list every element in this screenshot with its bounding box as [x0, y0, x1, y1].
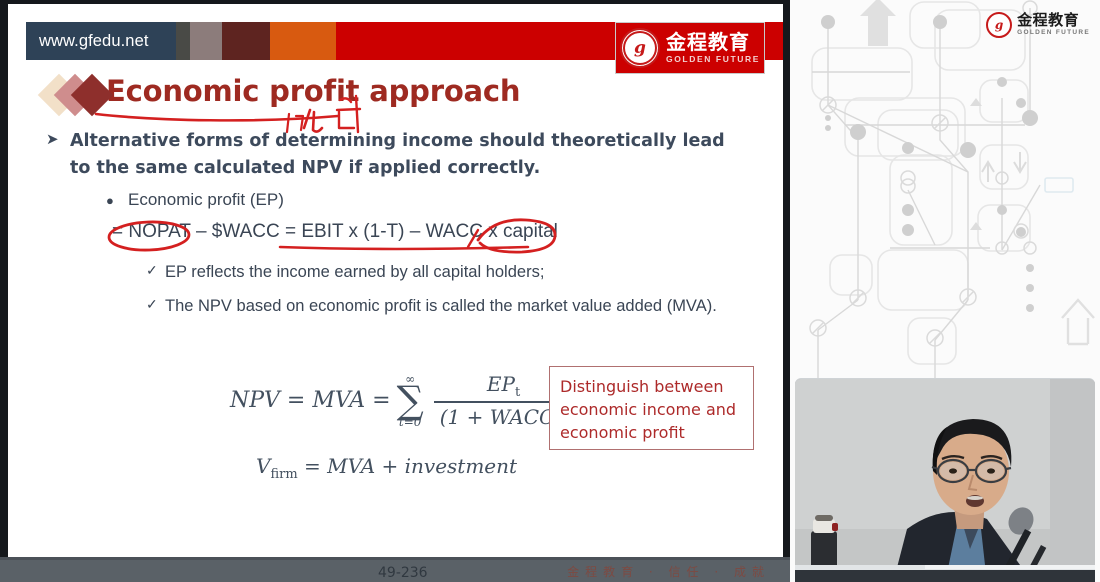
numerator-subscript: t — [515, 385, 520, 400]
gfedu-logo: g 金程教育 GOLDEN FUTURE — [615, 22, 765, 74]
water-bottle — [811, 515, 838, 571]
presentation-slide: www.gfedu.net g 金程教育 GOLDEN FUTURE — [8, 4, 783, 560]
slide-viewport: www.gfedu.net g 金程教育 GOLDEN FUTURE — [0, 0, 790, 582]
logo-english-name: GOLDEN FUTURE — [666, 55, 760, 64]
check-icon: ✓ — [146, 294, 158, 315]
equation-lhs: NPV = MVA = — [230, 388, 391, 413]
screen-root: www.gfedu.net g 金程教育 GOLDEN FUTURE — [0, 0, 1100, 582]
firm-value-equation: Vfirm = MVA + investment — [256, 454, 517, 482]
v-symbol: V — [256, 454, 270, 478]
up-arrow-icon-bottom — [1062, 300, 1094, 344]
logo-text: 金程教育 GOLDEN FUTURE — [666, 32, 760, 64]
v-subscript: firm — [270, 467, 297, 482]
arrow-bullet-icon: ➤ — [46, 128, 59, 151]
sigma-icon: ∑ — [397, 385, 424, 416]
bullet-level1-text: Alternative forms of determining income … — [70, 131, 725, 178]
economic-profit-formula: = NOPAT – $WACC = EBIT x (1-T) – WACC x … — [112, 221, 558, 243]
slide-title-row: Economic profit approach — [44, 74, 520, 108]
logo-chinese-name: 金程教育 — [666, 32, 760, 52]
header-color-block-orange — [270, 22, 336, 60]
bullet-level2-text: Economic profit (EP) — [128, 190, 284, 209]
ink-stroke-6 — [339, 112, 354, 128]
summation-operator: ∞ ∑ t=0 — [397, 373, 424, 428]
summation-lower-limit: t=0 — [399, 416, 422, 428]
page-number: 49-236 — [378, 565, 428, 581]
brand-english-name: GOLDEN FUTURE — [1017, 30, 1090, 37]
firm-value-rhs: = MVA + investment — [304, 454, 517, 478]
header-color-block-maroon — [222, 22, 270, 60]
dot-bullet-icon: ● — [106, 193, 114, 208]
fraction-numerator: EPt — [481, 372, 526, 401]
npv-mva-equation: NPV = MVA = ∞ ∑ t=0 EPt (1 + WACC)t — [230, 372, 573, 429]
check-bullet-2: ✓ The NPV based on economic profit is ca… — [165, 294, 765, 319]
footer-brand-text: 金程教育 · 信任 · 成就 — [567, 563, 770, 580]
check-icon: ✓ — [146, 260, 158, 281]
bullet-level1: ➤ Alternative forms of determining incom… — [70, 128, 750, 182]
callout-box: Distinguish between economic income and … — [549, 366, 754, 450]
ink-stroke-4 — [337, 109, 360, 110]
brand-chinese-name: 金程教育 — [1017, 13, 1090, 28]
lecturer-video-feed[interactable] — [795, 378, 1095, 582]
up-arrow-icon-top — [860, 0, 896, 46]
brand-seal-icon: g — [986, 12, 1012, 38]
header-color-block-gray — [176, 22, 190, 60]
check-bullet-1: ✓ EP reflects the income earned by all c… — [165, 260, 765, 285]
network-circuit-decoration — [790, 0, 1100, 380]
brand-logo-top-right: g 金程教育 GOLDEN FUTURE — [986, 12, 1090, 38]
brand-text: 金程教育 GOLDEN FUTURE — [1017, 13, 1090, 37]
header-color-block-mauve — [190, 22, 222, 60]
logo-seal-icon: g — [620, 28, 660, 68]
slide-title: Economic profit approach — [106, 74, 520, 108]
video-frame — [795, 379, 1095, 582]
ink-formula-underline — [280, 247, 528, 249]
ink-title-underline — [96, 114, 338, 120]
ink-stroke-1 — [304, 110, 310, 128]
bullet-level2: ● Economic profit (EP) — [128, 190, 284, 210]
site-url: www.gfedu.net — [26, 22, 176, 60]
check-bullet-1-text: EP reflects the income earned by all cap… — [165, 263, 544, 281]
check-bullet-2-text: The NPV based on economic profit is call… — [165, 297, 717, 315]
